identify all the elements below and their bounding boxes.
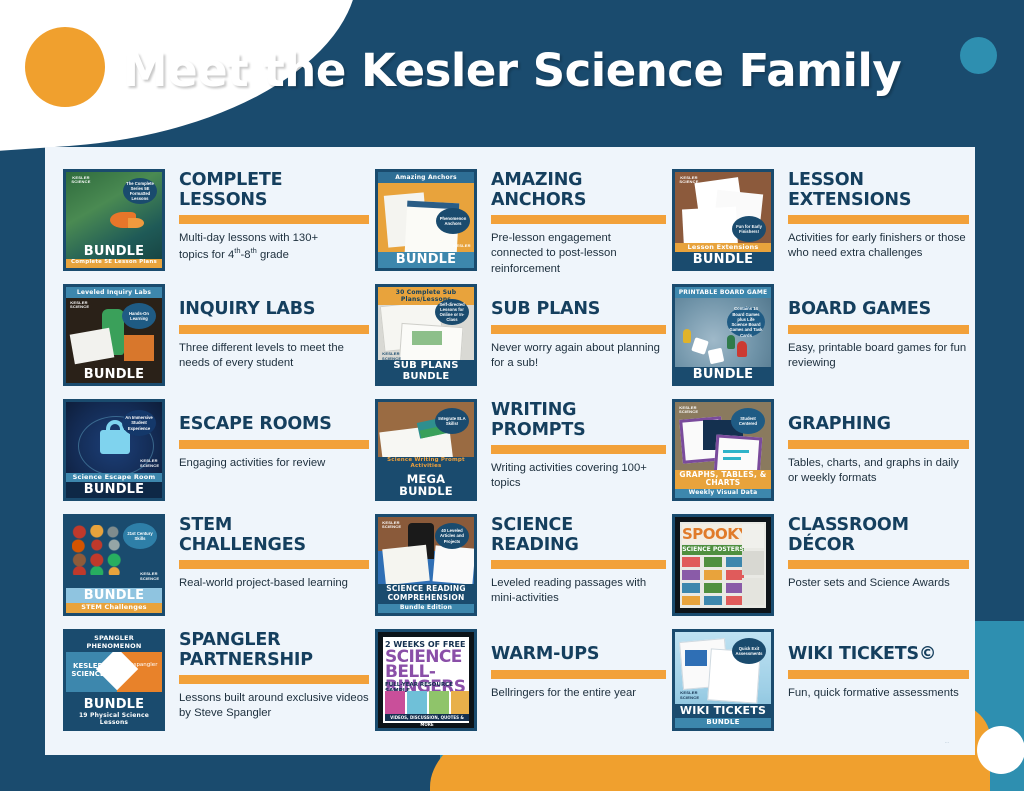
thumb-ribbon-sub: 19 Physical Science Lessons <box>66 712 162 728</box>
product-thumbnail[interactable]: 2 WEEKS OF FREE SCIENCE BELL-RINGERS FUL… <box>375 629 477 731</box>
product-title: AMAZING ANCHORS <box>491 171 666 210</box>
product-description: Activities for early finishers or those … <box>788 231 969 262</box>
product-thumbnail[interactable]: PRINTABLE BOARD GAME Contains 14 Board G… <box>672 284 774 386</box>
thumb-ribbon-main: MEGA BUNDLE <box>378 472 474 498</box>
product-grid: KESLER SCIENCE The Complete Series 5E Fo… <box>63 167 957 742</box>
accent-rule <box>179 440 369 449</box>
product-description: Leveled reading passages with mini-activ… <box>491 576 666 607</box>
product-description: Real-world project-based learning <box>179 576 369 591</box>
white-circle-icon <box>977 726 1024 774</box>
thumb-ribbon-main: BUNDLE <box>66 482 162 498</box>
product-title: SCIENCE READING <box>491 516 666 555</box>
product-thumbnail[interactable]: Integrate ELA Skills! Science Writing Pr… <box>375 399 477 501</box>
product-text: ESCAPE ROOMS Engaging activities for rev… <box>165 397 369 471</box>
product-card-classroom-decor[interactable]: SPOOKY SCIENCE POSTERS CLASSROOM DÉCOR P… <box>672 512 975 627</box>
poster-canvas: Meet the Kesler Science Family KESLER SC… <box>0 0 1024 791</box>
thumb-ribbon-sub: Complete 5E Lesson Plans <box>66 259 162 268</box>
thumb-badge: Self-directed Lessons for Online or In-C… <box>435 299 469 325</box>
bottom-teal-strip <box>0 749 1024 791</box>
product-description: Engaging activities for review <box>179 456 369 471</box>
product-title: GRAPHING <box>788 401 969 435</box>
thumb-ribbon-sub: Science Escape Room <box>66 473 162 483</box>
thumb-ribbon-main: WIKI TICKETS <box>675 704 771 718</box>
product-card-stem-challenges[interactable]: 21st Century Skills KESLER SCIENCE BUNDL… <box>63 512 375 627</box>
product-card-escape-rooms[interactable]: An Immersive Student Experience KESLER S… <box>63 397 375 512</box>
thumb-badge: The Complete Series 5E Formatted Lessons <box>123 178 157 204</box>
accent-rule <box>179 560 369 569</box>
product-text: SCIENCE READING Leveled reading passages… <box>477 512 666 607</box>
product-text: AMAZING ANCHORS Pre-lesson engagement co… <box>477 167 666 277</box>
accent-rule <box>788 440 969 449</box>
product-description: Poster sets and Science Awards <box>788 576 969 591</box>
thumb-ribbon: GRAPHS, TABLES, & CHARTS Weekly Visual D… <box>675 470 771 498</box>
product-thumbnail[interactable]: Quick Exit Assessments KESLER SCIENCE WI… <box>672 629 774 731</box>
product-text: GRAPHING Tables, charts, and graphs in d… <box>774 397 969 486</box>
thumb-badge: Fun for Early Finishers! <box>732 216 766 242</box>
thumb-ribbon-main: SCIENCE BELL-RINGERS <box>385 650 469 680</box>
product-title: COMPLETE LESSONS <box>179 171 369 210</box>
product-card-science-reading[interactable]: KESLER SCIENCE 40 Leveled Articles and P… <box>375 512 672 627</box>
product-card-lesson-extensions[interactable]: KESLER SCIENCE Fun for Early Finishers! … <box>672 167 975 282</box>
thumb-ribbon-sub: Weekly Visual Data <box>675 489 771 498</box>
thumb-ribbon-main: SUB PLANS BUNDLE <box>378 360 474 383</box>
accent-rule <box>179 215 369 224</box>
product-card-sub-plans[interactable]: 30 Complete Sub Plans/Lessons Self-direc… <box>375 282 672 397</box>
product-thumbnail[interactable]: SPOOKY SCIENCE POSTERS <box>672 514 774 616</box>
thumb-logo: KESLER SCIENCE <box>382 521 400 530</box>
product-description: Easy, printable board games for fun revi… <box>788 341 969 372</box>
thumb-badge: Integrate ELA Skills! <box>435 408 469 434</box>
product-thumbnail[interactable]: 21st Century Skills KESLER SCIENCE BUNDL… <box>63 514 165 616</box>
product-thumbnail[interactable]: KESLER SCIENCE 40 Leveled Articles and P… <box>375 514 477 616</box>
thumb-ribbon-sub: BUNDLE <box>675 718 771 728</box>
product-thumbnail[interactable]: An Immersive Student Experience KESLER S… <box>63 399 165 501</box>
thumb-ribbon-main: BUNDLE <box>378 252 474 268</box>
thumb-logo: KESLER <box>453 244 471 248</box>
accent-rule <box>491 445 666 454</box>
product-card-complete-lessons[interactable]: KESLER SCIENCE The Complete Series 5E Fo… <box>63 167 375 282</box>
thumb-logo: KESLER SCIENCE <box>680 691 698 700</box>
product-description: Pre-lesson engagement connected to post-… <box>491 231 666 277</box>
thumb-badge: Quick Exit Assessments <box>732 638 766 664</box>
thumb-ribbon-sub: STEM Challenges <box>66 603 162 613</box>
product-title: LESSON EXTENSIONS <box>788 171 969 210</box>
top-left-white-wedge-block <box>0 0 120 40</box>
thumb-ribbon: SCIENCE READING COMPREHENSION Bundle Edi… <box>378 584 474 613</box>
product-description: Bellringers for the entire year <box>491 686 666 701</box>
thumb-ribbon-main: SCIENCE READING COMPREHENSION <box>378 584 474 603</box>
thumb-ribbon-main: BUNDLE <box>66 244 162 260</box>
product-description: Three different levels to meet the needs… <box>179 341 369 372</box>
product-card-graphing[interactable]: KESLER SCIENCE Student Centered GRAPHS, … <box>672 397 975 512</box>
thumb-badge: Student Centered <box>731 408 765 434</box>
thumb-logo: KESLER SCIENCE <box>140 572 158 581</box>
product-text: COMPLETE LESSONS Multi-day lessons with … <box>165 167 369 263</box>
accent-rule <box>788 560 969 569</box>
thumb-badge: 21st Century Skills <box>123 523 157 549</box>
thumb-logo: KESLER SCIENCE <box>140 459 158 468</box>
product-title: WIKI TICKETS© <box>788 631 969 665</box>
thumb-logo: KESLER SCIENCE <box>70 301 88 310</box>
product-text: WRITING PROMPTS Writing activities cover… <box>477 397 666 492</box>
product-text: SPANGLER PARTNERSHIP Lessons built aroun… <box>165 627 369 722</box>
product-card-wiki-tickets[interactable]: Quick Exit Assessments KESLER SCIENCE WI… <box>672 627 975 742</box>
product-card-writing-prompts[interactable]: Integrate ELA Skills! Science Writing Pr… <box>375 397 672 512</box>
thumb-ribbon: BUNDLE 19 Physical Science Lessons <box>66 697 162 728</box>
thumb-ribbon-main: BUNDLE <box>675 367 771 383</box>
thumb-ribbon: Science Escape Room BUNDLE <box>66 473 162 498</box>
thumb-top-tag: SPANGLER PHENOMENON <box>66 632 162 652</box>
product-thumbnail[interactable]: KESLER SCIENCE Fun for Early Finishers! … <box>672 169 774 271</box>
product-description: Lessons built around exclusive videos by… <box>179 691 369 722</box>
product-text: INQUIRY LABS Three different levels to m… <box>165 282 369 371</box>
thumb-ribbon: BUNDLE <box>675 367 771 383</box>
product-text: LESSON EXTENSIONS Activities for early f… <box>774 167 969 262</box>
thumb-ribbon: BUNDLE <box>66 367 162 383</box>
product-title: SUB PLANS <box>491 286 666 320</box>
product-thumbnail[interactable]: 30 Complete Sub Plans/Lessons Self-direc… <box>375 284 477 386</box>
product-card-warm-ups[interactable]: 2 WEEKS OF FREE SCIENCE BELL-RINGERS FUL… <box>375 627 672 742</box>
thumb-top-tag: PRINTABLE BOARD GAME <box>675 287 771 298</box>
thumb-top-tag: SPOOKY <box>682 524 744 544</box>
page-title: Meet the Kesler Science Family <box>0 44 1024 97</box>
accent-rule <box>179 675 369 684</box>
thumb-ribbon: Lesson Extensions BUNDLE <box>675 243 771 268</box>
thumb-top-tag: Amazing Anchors <box>378 172 474 183</box>
thumb-badge: 40 Leveled Articles and Projects <box>435 523 469 549</box>
accent-rule <box>788 670 969 679</box>
thumb-logo: KESLER SCIENCE <box>679 176 699 185</box>
product-title: CLASSROOM DÉCOR <box>788 516 969 555</box>
accent-rule <box>788 215 969 224</box>
accent-rule <box>491 325 666 334</box>
product-title: SPANGLER PARTNERSHIP <box>179 631 369 670</box>
product-thumbnail[interactable]: KESLERSCIENCE stevespangler SPANGLER PHE… <box>63 629 165 731</box>
product-description: Fun, quick formative assessments <box>788 686 969 701</box>
thumb-ribbon-main: BUNDLE <box>66 588 162 604</box>
thumb-ribbon: BUNDLE Complete 5E Lesson Plans <box>66 244 162 268</box>
thumb-logo: KESLER SCIENCE <box>679 406 697 415</box>
thumb-ribbon-main: GRAPHS, TABLES, & CHARTS <box>675 470 771 489</box>
thumb-ribbon-main: SCIENCE POSTERS <box>682 545 744 555</box>
product-text: WIKI TICKETS© Fun, quick formative asses… <box>774 627 969 701</box>
thumb-ribbon: Science Writing Prompt Activities MEGA B… <box>378 457 474 498</box>
product-card-spangler-partnership[interactable]: KESLERSCIENCE stevespangler SPANGLER PHE… <box>63 627 375 742</box>
product-thumbnail[interactable]: Leveled Inquiry Labs KESLER SCIENCE Hand… <box>63 284 165 386</box>
thumb-ribbon-sub: Lesson Extensions <box>675 243 771 253</box>
product-title: WRITING PROMPTS <box>491 401 666 440</box>
product-text: SUB PLANS Never worry again about planni… <box>477 282 666 371</box>
thumb-ribbon: BUNDLE <box>378 252 474 268</box>
accent-rule <box>788 325 969 334</box>
thumb-ribbon: BUNDLE STEM Challenges <box>66 588 162 613</box>
product-text: WARM-UPS Bellringers for the entire year <box>477 627 666 701</box>
product-description: Never worry again about planning for a s… <box>491 341 666 372</box>
accent-rule <box>179 325 369 334</box>
thumb-ribbon: SUB PLANS BUNDLE <box>378 360 474 383</box>
accent-rule <box>491 560 666 569</box>
thumb-logo: KESLER SCIENCE <box>70 176 92 185</box>
product-text: STEM CHALLENGES Real-world project-based… <box>165 512 369 591</box>
product-description: Tables, charts, and graphs in daily or w… <box>788 456 969 487</box>
thumb-badge: Contains 14 Board Games plus Life Scienc… <box>727 307 765 337</box>
product-text: CLASSROOM DÉCOR Poster sets and Science … <box>774 512 969 591</box>
product-thumbnail[interactable]: Amazing Anchors Phenomenon Anchors KESLE… <box>375 169 477 271</box>
product-description: Multi-day lessons with 130+topics for 4t… <box>179 231 369 263</box>
product-card-board-games[interactable]: PRINTABLE BOARD GAME Contains 14 Board G… <box>672 282 975 397</box>
accent-rule <box>491 670 666 679</box>
thumb-top-tag: Leveled Inquiry Labs <box>66 287 162 298</box>
product-title: ESCAPE ROOMS <box>179 401 369 435</box>
thumb-ribbon: WIKI TICKETS BUNDLE <box>675 704 771 728</box>
content-panel: KESLER SCIENCE The Complete Series 5E Fo… <box>45 147 975 755</box>
product-title: STEM CHALLENGES <box>179 516 369 555</box>
thumb-badge: Phenomenon Anchors <box>436 208 470 234</box>
thumb-ribbon-sub: Bundle Edition <box>378 604 474 613</box>
thumb-badge: Hands-On Learning <box>122 303 156 329</box>
product-text: BOARD GAMES Easy, printable board games … <box>774 282 969 371</box>
thumb-logo: VIDEOS, DISCUSSION, QUOTES & MORE <box>385 714 469 721</box>
product-card-amazing-anchors[interactable]: Amazing Anchors Phenomenon Anchors KESLE… <box>375 167 672 282</box>
thumb-badge: An Immersive Student Experience <box>122 410 156 436</box>
thumb-ribbon-main: BUNDLE <box>66 367 162 383</box>
thumb-ribbon-main: BUNDLE <box>66 697 162 713</box>
product-title: INQUIRY LABS <box>179 286 369 320</box>
panel-corner-mark: ... <box>945 739 949 745</box>
product-thumbnail[interactable]: KESLER SCIENCE Student Centered GRAPHS, … <box>672 399 774 501</box>
product-title: WARM-UPS <box>491 631 666 665</box>
thumb-ribbon-main: BUNDLE <box>675 252 771 268</box>
thumb-ribbon-sub: FULL-YEAR RESOURCE SAMPLE <box>385 682 469 690</box>
product-thumbnail[interactable]: KESLER SCIENCE The Complete Series 5E Fo… <box>63 169 165 271</box>
product-card-inquiry-labs[interactable]: Leveled Inquiry Labs KESLER SCIENCE Hand… <box>63 282 375 397</box>
accent-rule <box>491 215 666 224</box>
thumb-ribbon-sub: Science Writing Prompt Activities <box>378 457 474 472</box>
product-title: BOARD GAMES <box>788 286 969 320</box>
product-description: Writing activities covering 100+ topics <box>491 461 666 492</box>
